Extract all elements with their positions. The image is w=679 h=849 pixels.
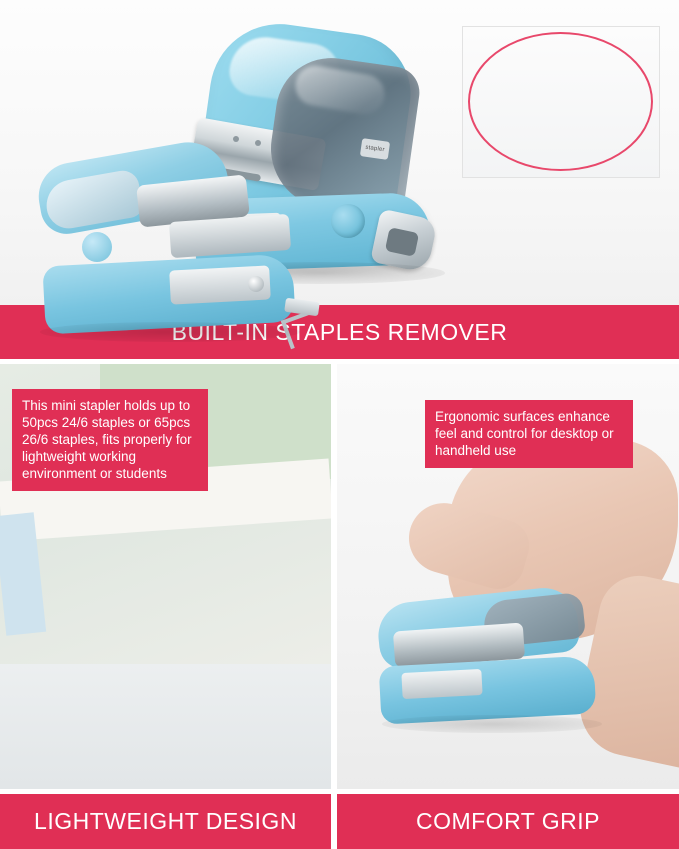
callout-lightweight-capacity: This mini stapler holds up to 50pcs 24/6… bbox=[12, 389, 208, 491]
stapler-cover-label: stapler bbox=[360, 138, 390, 160]
callout-ergonomic-surfaces: Ergonomic surfaces enhance feel and cont… bbox=[425, 400, 633, 468]
br-stapler-anvil-plate bbox=[401, 669, 482, 699]
divider-vertical bbox=[331, 364, 337, 849]
desk-surface bbox=[0, 664, 331, 789]
stapler-lightweight-illustration bbox=[30, 140, 310, 340]
banner-bottom-right-label: COMFORT GRIP bbox=[416, 808, 600, 835]
product-infographic: stapler BUILT-IN STAPLES REMOVER bbox=[0, 0, 679, 849]
banner-bottom-left-label: LIGHTWEIGHT DESIGN bbox=[34, 808, 297, 835]
stapler-pivot-knob bbox=[331, 204, 365, 238]
bl-stapler-knob bbox=[82, 232, 112, 262]
banner-comfort-grip: COMFORT GRIP bbox=[337, 794, 679, 849]
banner-lightweight-design: LIGHTWEIGHT DESIGN bbox=[0, 794, 331, 849]
stapler-comfort-grip-illustration bbox=[372, 575, 617, 735]
bl-stapler-anvil-dial bbox=[248, 276, 264, 292]
bl-stapler-shadow bbox=[40, 322, 300, 342]
bl-stapler-metal-lower bbox=[169, 214, 291, 258]
highlight-circle-icon bbox=[468, 32, 653, 171]
br-stapler-shadow bbox=[382, 715, 602, 733]
